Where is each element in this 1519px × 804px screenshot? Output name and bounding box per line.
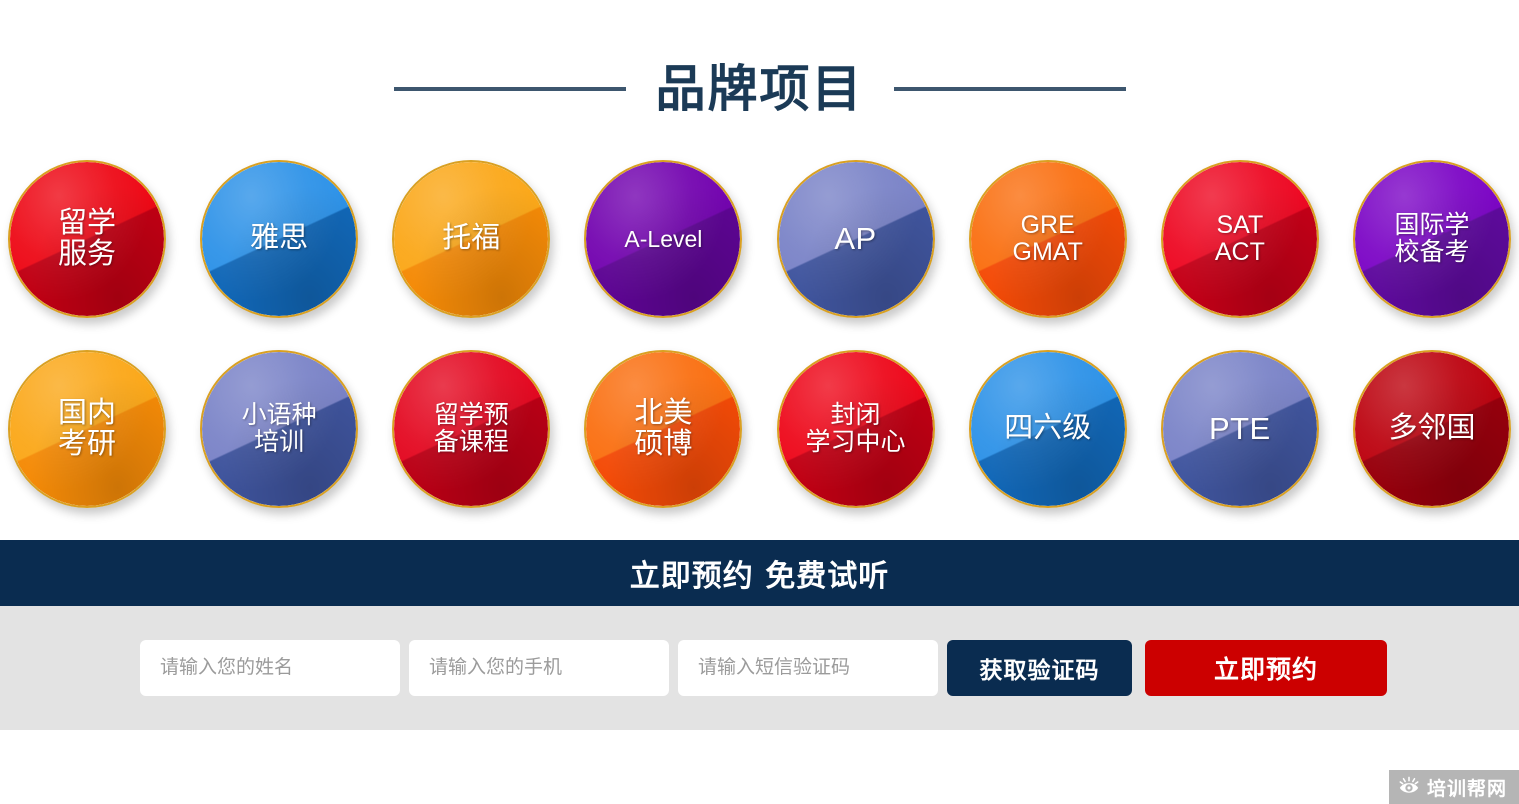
program-bubble-label: 封闭 学习中心 — [800, 402, 912, 456]
program-bubble-label: 小语种 培训 — [236, 402, 323, 456]
program-bubble[interactable]: AP — [777, 160, 935, 318]
title-rule-right — [894, 87, 1126, 91]
program-bubble[interactable]: 留学预 备课程 — [392, 350, 550, 508]
program-bubble-label: AP — [828, 222, 882, 255]
program-bubble[interactable]: A-Level — [584, 160, 742, 318]
program-bubble[interactable]: 四六级 — [969, 350, 1127, 508]
program-bubble[interactable]: SAT ACT — [1161, 160, 1319, 318]
page-title: 品牌项目 — [656, 64, 864, 114]
program-bubble[interactable]: 留学 服务 — [8, 160, 166, 318]
reservation-form: 获取验证码 立即预约 — [0, 606, 1519, 730]
program-bubble-label: 雅思 — [244, 223, 314, 254]
watermark-text: 培训帮网 — [1427, 774, 1507, 801]
program-bubble[interactable]: 北美 硕博 — [584, 350, 742, 508]
program-bubble[interactable]: 国际学 校备考 — [1353, 160, 1511, 318]
cta-banner: 立即预约 免费试听 — [0, 540, 1519, 606]
name-input[interactable] — [140, 640, 400, 696]
program-bubble-label: 四六级 — [998, 413, 1097, 444]
sms-code-input[interactable] — [678, 640, 938, 696]
phone-input[interactable] — [409, 640, 669, 696]
program-bubble[interactable]: PTE — [1161, 350, 1319, 508]
program-bubble[interactable]: 多邻国 — [1353, 350, 1511, 508]
program-bubble-label: 多邻国 — [1382, 413, 1481, 444]
program-bubble[interactable]: 国内 考研 — [8, 350, 166, 508]
program-bubble-label: 国内 考研 — [52, 398, 122, 461]
program-bubble-label: 留学预 备课程 — [428, 402, 515, 456]
watermark: 培训帮网 — [1389, 770, 1519, 804]
program-bubble-label: A-Level — [618, 227, 708, 252]
get-code-button[interactable]: 获取验证码 — [947, 640, 1132, 696]
eye-icon — [1398, 776, 1420, 798]
program-bubble[interactable]: GRE GMAT — [969, 160, 1127, 318]
program-bubble[interactable]: 托福 — [392, 160, 550, 318]
program-bubble[interactable]: 小语种 培训 — [200, 350, 358, 508]
title-rule-left — [394, 87, 626, 91]
submit-reservation-button[interactable]: 立即预约 — [1145, 640, 1387, 696]
program-bubble-label: PTE — [1203, 412, 1277, 445]
program-bubble-label: 托福 — [436, 223, 506, 254]
cta-banner-text: 立即预约 免费试听 — [630, 551, 889, 595]
program-bubble-label: 国际学 校备考 — [1388, 212, 1475, 266]
program-bubble-label: 留学 服务 — [52, 208, 122, 271]
program-bubble-label: SAT ACT — [1209, 212, 1271, 266]
program-grid: 留学 服务雅思托福A-LevelAPGRE GMATSAT ACT国际学 校备考… — [0, 160, 1519, 508]
program-bubble[interactable]: 封闭 学习中心 — [777, 350, 935, 508]
program-bubble[interactable]: 雅思 — [200, 160, 358, 318]
section-header: 品牌项目 — [0, 0, 1519, 160]
program-bubble-label: 北美 硕博 — [628, 398, 698, 461]
program-row-2: 国内 考研小语种 培训留学预 备课程北美 硕博封闭 学习中心四六级PTE多邻国 — [8, 350, 1511, 508]
program-bubble-label: GRE GMAT — [1007, 212, 1089, 266]
program-row-1: 留学 服务雅思托福A-LevelAPGRE GMATSAT ACT国际学 校备考 — [8, 160, 1511, 318]
